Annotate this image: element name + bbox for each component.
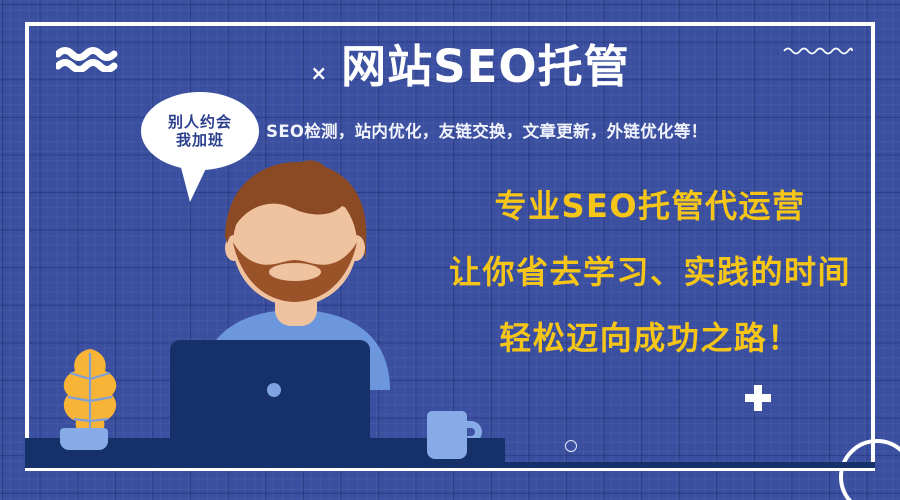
laptop-icon [170, 340, 370, 448]
seo-hosting-banner: × 网站SEO托管 含：SEO检测，站内优化，友链交换，文章更新，外链优化等！ … [0, 0, 900, 500]
speech-bubble-line-1: 别人约会 [168, 113, 232, 131]
plus-icon [745, 385, 771, 411]
title-bullet-icon: × [310, 63, 327, 83]
page-title: 网站SEO托管 [341, 44, 629, 89]
slogan-line-3: 轻松迈向成功之路！ [430, 322, 870, 354]
slogan-list: 专业SEO托管代运营 让你省去学习、实践的时间 轻松迈向成功之路！ [430, 190, 870, 354]
speech-bubble-line-2: 我加班 [176, 131, 224, 149]
slogan-line-2: 让你省去学习、实践的时间 [430, 256, 870, 288]
laptop-logo-dot [267, 383, 281, 397]
speech-bubble: 别人约会 我加班 [141, 92, 259, 170]
banner-title-row: × 网站SEO托管 [0, 44, 900, 89]
desk-edge [25, 462, 875, 468]
circle-outline-icon [565, 440, 577, 452]
plant-pot [60, 428, 108, 450]
banner-subtitle: 含：SEO检测，站内优化，友链交换，文章更新，外链优化等！ [0, 118, 900, 142]
slogan-line-1: 专业SEO托管代运营 [430, 190, 870, 222]
coffee-mug-icon [427, 411, 467, 459]
